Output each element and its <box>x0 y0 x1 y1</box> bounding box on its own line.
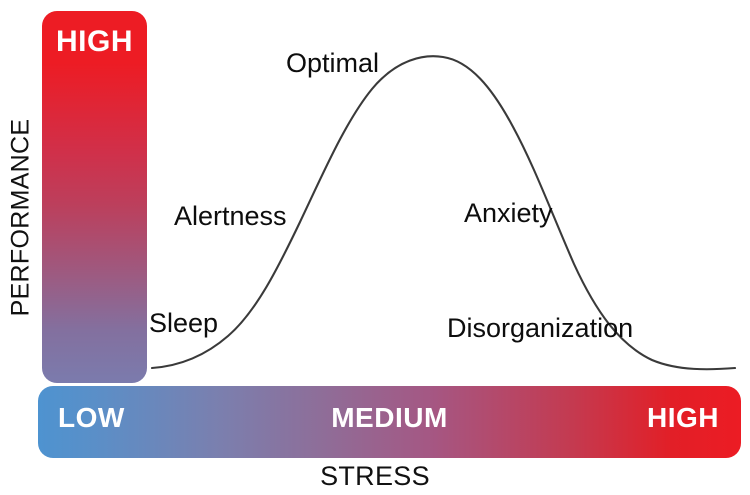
curve-label-alertness: Alertness <box>174 203 287 230</box>
x-axis-title: STRESS <box>0 461 750 492</box>
y-axis-title: PERFORMANCE <box>7 93 36 343</box>
curve-label-disorganization: Disorganization <box>447 315 633 342</box>
performance-gradient-bar: HIGH <box>42 11 147 383</box>
stress-high-label: HIGH <box>647 404 719 432</box>
curve-label-optimal: Optimal <box>286 50 379 77</box>
stress-medium-label: MEDIUM <box>38 404 741 432</box>
performance-high-label: HIGH <box>42 27 147 57</box>
curve-label-sleep: Sleep <box>149 310 218 337</box>
curve-label-anxiety: Anxiety <box>464 200 553 227</box>
stress-gradient-bar: LOW MEDIUM HIGH <box>38 386 741 458</box>
stress-performance-chart: PERFORMANCE HIGH LOW MEDIUM HIGH Optimal… <box>0 0 750 495</box>
